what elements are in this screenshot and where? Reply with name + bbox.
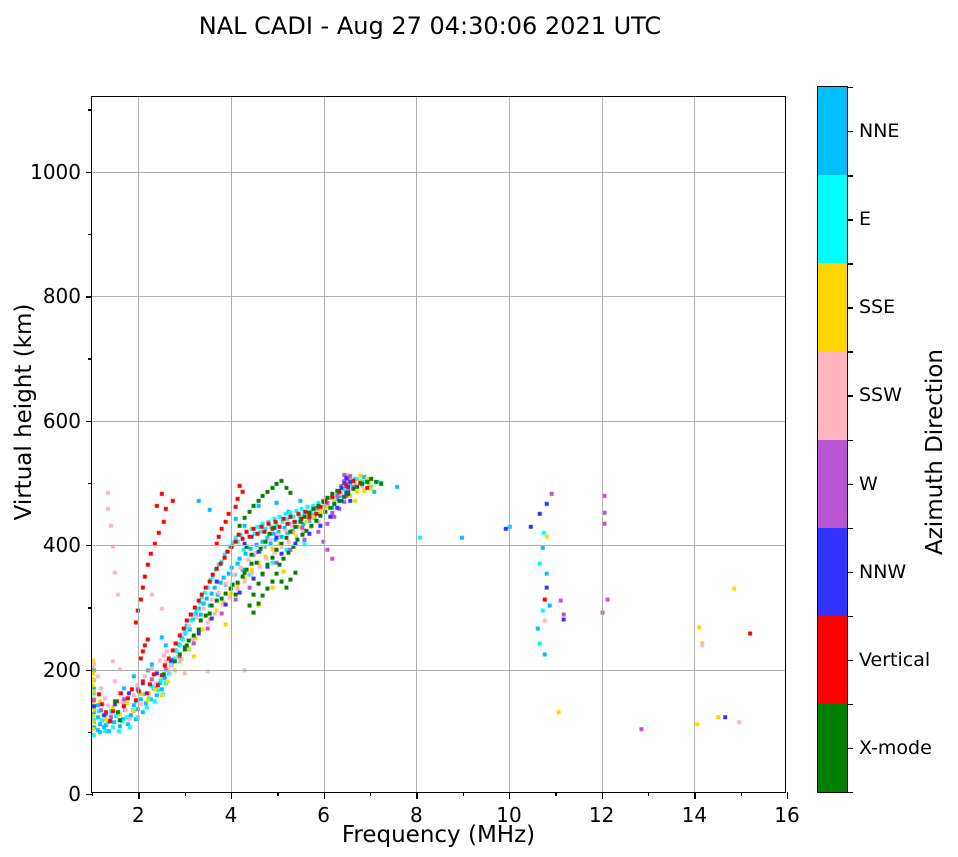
- colorbar-tick: [847, 219, 853, 220]
- colorbar-tick: [847, 307, 853, 308]
- colorbar-boundary-tick: [847, 528, 853, 529]
- colorbar-boundary-tick: [847, 351, 853, 352]
- colorbar-boundary-tick: [847, 704, 853, 705]
- x-tick-major: [324, 792, 325, 799]
- colorbar-boundary-tick: [847, 87, 853, 88]
- colorbar-boundary-tick: [847, 175, 853, 176]
- x-tick-minor: [463, 792, 464, 796]
- y-tick-label: 1000: [30, 160, 81, 184]
- colorbar-segment-ssw[interactable]: [818, 351, 847, 439]
- gridline-vertical: [231, 97, 232, 792]
- y-tick-label: 800: [43, 284, 81, 308]
- colorbar-label-nne: NNE: [859, 120, 899, 142]
- gridline-vertical: [324, 97, 325, 792]
- y-tick-label: 200: [43, 658, 81, 682]
- x-tick-major: [694, 792, 695, 799]
- x-tick-major: [787, 792, 788, 799]
- y-tick-minor: [88, 732, 92, 733]
- colorbar-label-nnw: NNW: [859, 561, 906, 583]
- colorbar-segment-vertical[interactable]: [818, 616, 847, 704]
- y-tick-minor: [88, 607, 92, 608]
- x-tick-minor: [185, 792, 186, 796]
- x-tick-minor: [648, 792, 649, 796]
- gridline-vertical: [138, 97, 139, 792]
- page-title: NAL CADI - Aug 27 04:30:06 2021 UTC: [0, 12, 860, 40]
- colorbar-tick: [847, 131, 853, 132]
- gridline-horizontal: [92, 545, 785, 546]
- colorbar-segment-x-mode[interactable]: [818, 704, 847, 792]
- x-tick-minor: [92, 792, 93, 796]
- gridline-horizontal: [92, 296, 785, 297]
- x-tick-major: [509, 792, 510, 799]
- x-tick-minor: [555, 792, 556, 796]
- colorbar-boundary-tick: [847, 440, 853, 441]
- y-axis-title: Virtual height (km): [11, 252, 37, 572]
- y-tick-major: [86, 172, 93, 173]
- gridline-vertical: [509, 97, 510, 792]
- x-tick-major: [231, 792, 232, 799]
- colorbar-boundary-tick: [847, 263, 853, 264]
- y-tick-minor: [88, 358, 92, 359]
- y-tick-major: [86, 421, 93, 422]
- colorbar-label-sse: SSE: [859, 296, 895, 318]
- y-tick-label: 400: [43, 533, 81, 557]
- gridline-horizontal: [92, 421, 785, 422]
- ionogram-plot-area[interactable]: 02004006008001000246810121416: [91, 96, 786, 793]
- y-tick-major: [86, 296, 93, 297]
- y-tick-label: 0: [68, 782, 81, 806]
- colorbar-boundary-tick: [847, 616, 853, 617]
- y-tick-minor: [88, 109, 92, 110]
- figure-canvas: NAL CADI - Aug 27 04:30:06 2021 UTC 0200…: [0, 0, 958, 857]
- colorbar-label-w: W: [859, 473, 878, 495]
- gridline-vertical: [694, 97, 695, 792]
- gridline-horizontal: [92, 172, 785, 173]
- colorbar-label-vertical: Vertical: [859, 649, 930, 671]
- y-tick-major: [86, 545, 93, 546]
- colorbar-segment-sse[interactable]: [818, 263, 847, 351]
- x-tick-major: [138, 792, 139, 799]
- x-axis-title: Frequency (MHz): [91, 822, 786, 848]
- colorbar-tick: [847, 572, 853, 573]
- gridline-horizontal: [92, 670, 785, 671]
- colorbar-title: Azimuth Direction: [922, 292, 948, 612]
- colorbar-tick: [847, 395, 853, 396]
- colorbar-segment-nnw[interactable]: [818, 528, 847, 616]
- colorbar[interactable]: NNEESSESSWWNNWVerticalX-mode: [817, 86, 848, 793]
- y-tick-major: [86, 670, 93, 671]
- colorbar-label-e: E: [859, 208, 871, 230]
- x-tick-minor: [741, 792, 742, 796]
- colorbar-label-ssw: SSW: [859, 384, 902, 406]
- colorbar-segment-e[interactable]: [818, 175, 847, 263]
- x-tick-minor: [370, 792, 371, 796]
- colorbar-segment-w[interactable]: [818, 440, 847, 528]
- colorbar-segment-nne[interactable]: [818, 87, 847, 175]
- colorbar-tick: [847, 660, 853, 661]
- y-tick-label: 600: [43, 409, 81, 433]
- gridline-vertical: [416, 97, 417, 792]
- y-tick-minor: [88, 483, 92, 484]
- colorbar-tick: [847, 484, 853, 485]
- colorbar-label-x-mode: X-mode: [859, 737, 932, 759]
- gridline-vertical: [602, 97, 603, 792]
- x-tick-major: [602, 792, 603, 799]
- x-tick-minor: [277, 792, 278, 796]
- colorbar-boundary-tick: [847, 792, 853, 793]
- scatter-data-layer: [92, 97, 785, 792]
- y-tick-minor: [88, 234, 92, 235]
- x-tick-major: [416, 792, 417, 799]
- colorbar-tick: [847, 748, 853, 749]
